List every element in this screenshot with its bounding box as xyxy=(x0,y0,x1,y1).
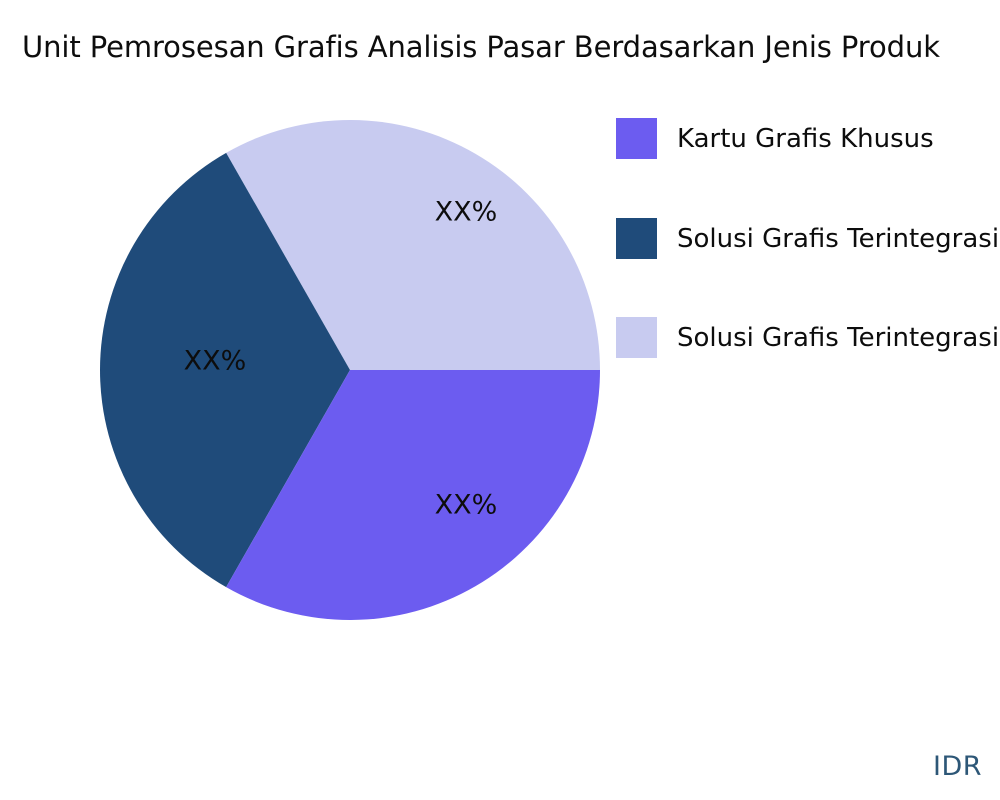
pie-slice-label: XX% xyxy=(184,346,247,377)
chart-figure: Unit Pemrosesan Grafis Analisis Pasar Be… xyxy=(0,0,1000,800)
legend-item-kartu-grafis-khusus[interactable]: Kartu Grafis Khusus xyxy=(616,118,934,159)
currency-watermark: IDR xyxy=(933,751,982,782)
legend-item-label: Solusi Grafis Terintegrasi xyxy=(677,323,999,353)
pie-chart: XX%XX%XX% xyxy=(100,120,600,620)
pie-slice-group xyxy=(100,120,600,620)
legend-item-solusi-grafis-terintegrasi-1[interactable]: Solusi Grafis Terintegrasi xyxy=(616,218,999,259)
pie-chart-svg: XX%XX%XX% xyxy=(100,120,600,620)
page-title: Unit Pemrosesan Grafis Analisis Pasar Be… xyxy=(22,27,940,67)
legend-swatch-icon xyxy=(616,317,657,358)
legend-swatch-icon xyxy=(616,218,657,259)
legend-item-label: Kartu Grafis Khusus xyxy=(677,124,934,154)
legend-swatch-icon xyxy=(616,118,657,159)
pie-slice-label: XX% xyxy=(435,197,498,228)
legend-item-solusi-grafis-terintegrasi-2[interactable]: Solusi Grafis Terintegrasi xyxy=(616,317,999,358)
pie-slice-label: XX% xyxy=(435,490,498,521)
legend-item-label: Solusi Grafis Terintegrasi xyxy=(677,224,999,254)
